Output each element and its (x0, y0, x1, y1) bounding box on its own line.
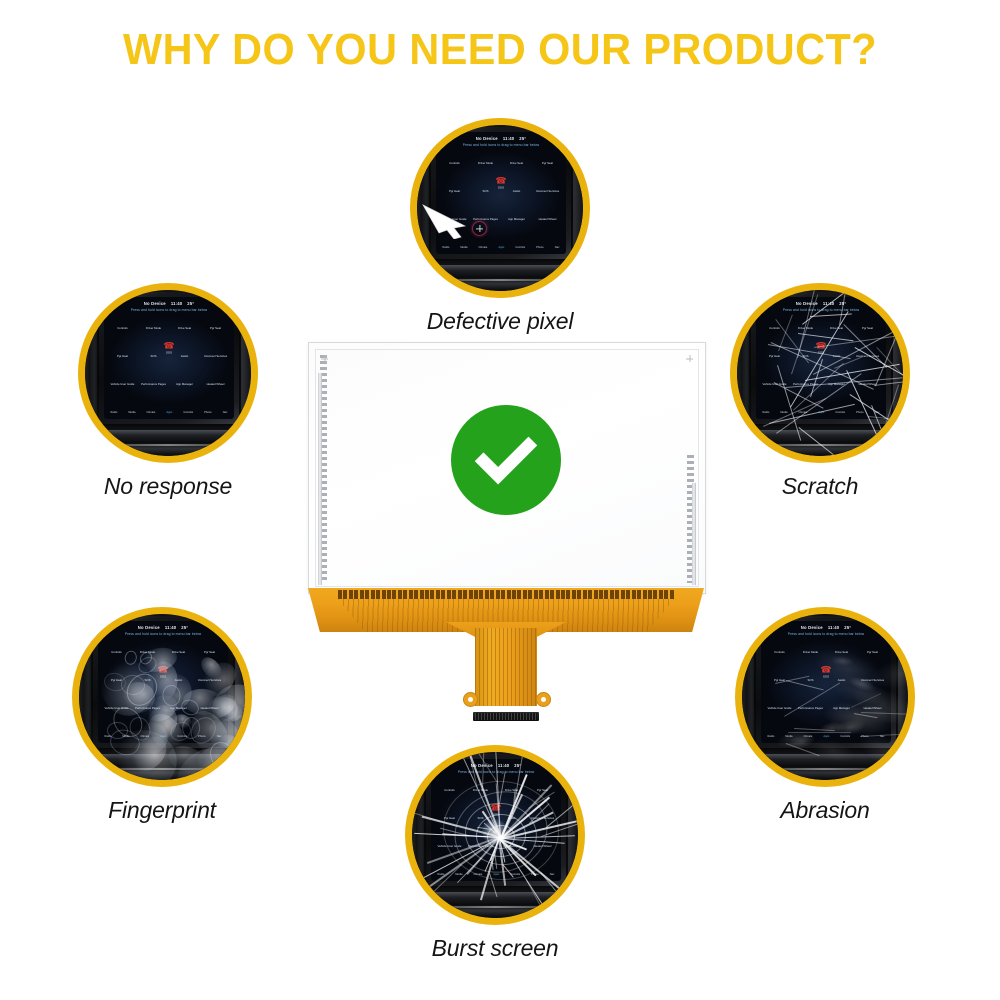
ribbon-contact-pads (338, 590, 674, 599)
menu-item: Driver Mode (798, 327, 813, 330)
green-check-circle-icon (451, 405, 561, 515)
callout-ring: LO No Device 11:40 25° LO Press and hold… (405, 745, 585, 925)
dock-item: Radio (438, 862, 445, 880)
car-dashboard-photo: LO No Device 11:40 25° LO Press and hold… (737, 290, 903, 456)
menu-item: Vehicle User Guide (111, 383, 135, 386)
menu-item: Controls (117, 327, 127, 330)
dock-item: Apps (160, 724, 166, 742)
menu-item: Uconnect Services (861, 679, 884, 682)
flex-ribbon-cable (300, 588, 712, 734)
callout-abrasion: LO No Device 11:40 25° LO Press and hold… (735, 607, 915, 824)
dock-item: Media (128, 400, 135, 418)
screen-hint-text: Press and hold icons to drag to menu bar… (756, 308, 886, 312)
menu-item: Pgr Seat (204, 651, 215, 654)
dock-item: Phone (204, 400, 212, 418)
car-dashboard-photo: LO No Device 11:40 25° LO Press and hold… (412, 752, 578, 918)
menu-item: Controls (111, 651, 121, 654)
ribbon-stem (475, 628, 537, 706)
infotainment-screen: LO No Device 11:40 25° LO Press and hold… (431, 759, 561, 881)
menu-item: Driver Mode (140, 651, 155, 654)
dock-item: Climate (479, 235, 488, 253)
menu-item: Uconnect Services (536, 190, 559, 193)
menu-item: Assist (833, 355, 840, 358)
menu-item: App Manager (508, 218, 525, 221)
infotainment-screen: LO No Device 11:40 25° LO Press and hold… (761, 621, 891, 743)
dock-item: Nav (880, 724, 885, 742)
status-device: No Device (144, 301, 166, 306)
menu-item: Drive Seat (835, 651, 848, 654)
menu-item: Driver Mode (478, 162, 493, 165)
menu-item: Performance Pages (468, 845, 493, 848)
screen-dock: Radio Media Climate Apps Controls Phone … (437, 235, 565, 252)
menu-item: Uconnect Services (531, 817, 554, 820)
alignment-mark-icon (686, 355, 693, 362)
menu-item: Pgr Heat (117, 355, 128, 358)
alignment-mark-icon (321, 355, 328, 362)
dock-item: Phone (861, 724, 869, 742)
dock-item: Apps (166, 400, 172, 418)
menu-item: Performance Pages (798, 707, 823, 710)
status-lo-left: LO (108, 301, 114, 306)
callout-defective-pixel: LO No Device 11:40 25° LO Press and hold… (410, 118, 590, 335)
menu-item: Drive Seat (172, 651, 185, 654)
menu-item: Performance Pages (135, 707, 160, 710)
status-temp: 25° (844, 625, 851, 630)
dock-item: Nav (223, 400, 228, 418)
screen-dock: Radio Media Climate Apps Controls Phone … (432, 862, 560, 879)
sos-indicator: ☎ SOS (495, 177, 506, 190)
sos-indicator: ☎ SOS (490, 804, 501, 817)
status-lo-left: LO (760, 301, 766, 306)
menu-item: Vehicle User Guide (768, 707, 792, 710)
dock-item: Media (122, 724, 129, 742)
product-touchscreen-digitizer (300, 336, 712, 736)
sos-indicator: ☎ SOS (163, 342, 174, 355)
menu-item: Assist (175, 679, 182, 682)
status-device: No Device (476, 136, 498, 141)
menu-item: App Manager (170, 707, 187, 710)
callout-ring: LO No Device 11:40 25° LO Press and hold… (730, 283, 910, 463)
menu-item: App Manager (833, 707, 850, 710)
sos-indicator: ☎ SOS (157, 666, 168, 679)
dock-item: Phone (531, 862, 539, 880)
dock-item: Media (455, 862, 462, 880)
menu-item: Vehicle User Guide (443, 218, 467, 221)
menu-item: Controls (774, 651, 784, 654)
menu-item: Driver Mode (803, 651, 818, 654)
car-dashboard-photo: LO No Device 11:40 25° LO Press and hold… (417, 125, 583, 291)
status-lo-right: LO (556, 136, 562, 141)
status-temp: 25° (839, 301, 846, 306)
screen-hint-text: Press and hold icons to drag to menu bar… (436, 143, 566, 147)
menu-item: Uconnect Services (198, 679, 221, 682)
callout-label-defective-pixel: Defective pixel (370, 308, 630, 335)
dock-item: Nav (550, 862, 555, 880)
screen-hint-text: Press and hold icons to drag to menu bar… (761, 632, 891, 636)
menu-item: Performance Pages (793, 383, 818, 386)
dock-item: Controls (510, 862, 520, 880)
callout-ring: LO No Device 11:40 25° LO Press and hold… (735, 607, 915, 787)
dock-item: Nav (875, 400, 880, 418)
menu-item: Pgr Heat (769, 355, 780, 358)
dock-item: Apps (498, 235, 504, 253)
dock-item: Climate (141, 724, 150, 742)
screen-hint-text: Press and hold icons to drag to menu bar… (98, 632, 228, 636)
status-time: 11:40 (503, 136, 514, 141)
menu-grid: Controls Driver Mode Drive Seat Pgr Seat… (434, 776, 558, 860)
callout-scratch: LO No Device 11:40 25° LO Press and hold… (730, 283, 910, 500)
status-device: No Device (796, 301, 818, 306)
ribbon-mount-hole-left (463, 692, 478, 707)
dock-item: Radio (443, 235, 450, 253)
dock-item: Phone (856, 400, 864, 418)
dock-item: Climate (799, 400, 808, 418)
menu-item: Heated Wheel (534, 845, 552, 848)
dock-item: Controls (835, 400, 845, 418)
screen-dock: Radio Media Climate Apps Controls Phone … (757, 400, 885, 417)
dock-item: Controls (515, 235, 525, 253)
menu-item: Performance Pages (141, 383, 166, 386)
status-temp: 25° (181, 625, 188, 630)
dock-item: Radio (111, 400, 118, 418)
callout-label-abrasion: Abrasion (695, 797, 955, 824)
menu-item: Performance Pages (473, 218, 498, 221)
callout-no-response: LO No Device 11:40 25° LO Press and hold… (78, 283, 258, 500)
callout-label-fingerprint: Fingerprint (32, 797, 292, 824)
dock-item: Climate (804, 724, 813, 742)
menu-item: Controls (769, 327, 779, 330)
callout-ring: LO No Device 11:40 25° LO Press and hold… (72, 607, 252, 787)
menu-item: Assist (838, 679, 845, 682)
menu-item: Heated Wheel (864, 707, 882, 710)
menu-item: Heated Wheel (201, 707, 219, 710)
menu-item: Vehicle User Guide (438, 845, 462, 848)
status-lo-left: LO (102, 625, 108, 630)
dock-item: Apps (818, 400, 824, 418)
menu-item: Assist (181, 355, 188, 358)
dock-item: Apps (493, 862, 499, 880)
ribbon-mount-hole-right (536, 692, 551, 707)
dock-item: Climate (147, 400, 156, 418)
status-lo-left: LO (440, 136, 446, 141)
menu-item: Pgr Heat (774, 679, 785, 682)
dock-item: Media (780, 400, 787, 418)
menu-item: SOS (803, 355, 809, 358)
status-lo-right: LO (218, 625, 224, 630)
screen-dock: Radio Media Climate Apps Controls Phone … (105, 400, 233, 417)
menu-item: App Manager (176, 383, 193, 386)
ribbon-connector (473, 712, 539, 721)
status-time: 11:40 (823, 301, 834, 306)
menu-item: Driver Mode (473, 789, 488, 792)
screen-hint-text: Press and hold icons to drag to menu bar… (104, 308, 234, 312)
infotainment-screen: LO No Device 11:40 25° LO Press and hold… (756, 297, 886, 419)
menu-item: Uconnect Services (856, 355, 879, 358)
screen-dock: Radio Media Climate Apps Controls Phone … (762, 724, 890, 741)
status-time: 11:40 (165, 625, 176, 630)
menu-item: Drive Seat (505, 789, 518, 792)
car-dashboard-photo: LO No Device 11:40 25° LO Press and hold… (85, 290, 251, 456)
dock-item: Nav (555, 235, 560, 253)
menu-item: Pgr Seat (867, 651, 878, 654)
menu-item: SOS (483, 190, 489, 193)
infotainment-screen: LO No Device 11:40 25° LO Press and hold… (104, 297, 234, 419)
menu-item: Drive Seat (178, 327, 191, 330)
screen-hint-text: Press and hold icons to drag to menu bar… (431, 770, 561, 774)
menu-item: Vehicle User Guide (105, 707, 129, 710)
dock-item: Controls (840, 724, 850, 742)
menu-item: Controls (449, 162, 459, 165)
status-temp: 25° (187, 301, 194, 306)
status-lo-right: LO (876, 301, 882, 306)
menu-grid: Controls Driver Mode Drive Seat Pgr Seat… (439, 149, 563, 233)
status-lo-right: LO (881, 625, 887, 630)
menu-item: Controls (444, 789, 454, 792)
menu-item: App Manager (503, 845, 520, 848)
menu-item: Pgr Seat (537, 789, 548, 792)
callout-fingerprint: LO No Device 11:40 25° LO Press and hold… (72, 607, 252, 824)
dock-item: Controls (177, 724, 187, 742)
status-device: No Device (138, 625, 160, 630)
menu-item: Assist (513, 190, 520, 193)
status-lo-left: LO (765, 625, 771, 630)
menu-item: App Manager (828, 383, 845, 386)
menu-item: Heated Wheel (539, 218, 557, 221)
page-title: WHY DO YOU NEED OUR PRODUCT? (30, 28, 970, 72)
menu-item: Driver Mode (146, 327, 161, 330)
callout-ring: LO No Device 11:40 25° LO Press and hold… (410, 118, 590, 298)
menu-item: SOS (808, 679, 814, 682)
menu-item: SOS (478, 817, 484, 820)
menu-item: SOS (145, 679, 151, 682)
menu-item: Uconnect Services (204, 355, 227, 358)
car-dashboard-photo: LO No Device 11:40 25° LO Press and hold… (742, 614, 908, 780)
callout-label-scratch: Scratch (690, 473, 950, 500)
dock-item: Apps (823, 724, 829, 742)
dock-item: Media (785, 724, 792, 742)
dock-item: Phone (536, 235, 544, 253)
menu-item: Vehicle User Guide (763, 383, 787, 386)
dock-item: Radio (105, 724, 112, 742)
menu-grid: Controls Driver Mode Drive Seat Pgr Seat… (759, 314, 883, 398)
screen-dock: Radio Media Climate Apps Controls Phone … (99, 724, 227, 741)
menu-item: Assist (508, 817, 515, 820)
status-temp: 25° (519, 136, 526, 141)
dock-item: Climate (474, 862, 483, 880)
sos-indicator: ☎ SOS (815, 342, 826, 355)
status-device: No Device (801, 625, 823, 630)
status-time: 11:40 (828, 625, 839, 630)
dock-item: Phone (198, 724, 206, 742)
callout-label-burst-screen: Burst screen (365, 935, 625, 962)
menu-item: Pgr Seat (862, 327, 873, 330)
status-time: 11:40 (498, 763, 509, 768)
menu-item: Drive Seat (830, 327, 843, 330)
callout-label-no-response: No response (38, 473, 298, 500)
menu-item: Heated Wheel (207, 383, 225, 386)
dock-item: Nav (217, 724, 222, 742)
menu-item: Pgr Heat (111, 679, 122, 682)
menu-item: Pgr Heat (449, 190, 460, 193)
menu-item: Heated Wheel (859, 383, 877, 386)
status-lo-right: LO (551, 763, 557, 768)
status-lo-right: LO (224, 301, 230, 306)
car-dashboard-photo: LO No Device 11:40 25° LO Press and hold… (79, 614, 245, 780)
menu-item: Drive Seat (510, 162, 523, 165)
dock-item: Radio (763, 400, 770, 418)
menu-item: SOS (151, 355, 157, 358)
infotainment-screen: LO No Device 11:40 25° LO Press and hold… (436, 132, 566, 254)
dock-item: Media (460, 235, 467, 253)
menu-item: Pgr Seat (542, 162, 553, 165)
menu-item: Pgr Seat (210, 327, 221, 330)
infotainment-screen: LO No Device 11:40 25° LO Press and hold… (98, 621, 228, 743)
menu-grid: Controls Driver Mode Drive Seat Pgr Seat… (764, 638, 888, 722)
dock-item: Controls (183, 400, 193, 418)
status-temp: 25° (514, 763, 521, 768)
status-lo-left: LO (435, 763, 441, 768)
menu-grid: Controls Driver Mode Drive Seat Pgr Seat… (101, 638, 225, 722)
callout-ring: LO No Device 11:40 25° LO Press and hold… (78, 283, 258, 463)
callout-burst-screen: LO No Device 11:40 25° LO Press and hold… (405, 745, 585, 962)
menu-grid: Controls Driver Mode Drive Seat Pgr Seat… (107, 314, 231, 398)
status-device: No Device (471, 763, 493, 768)
sos-indicator: ☎ SOS (820, 666, 831, 679)
status-time: 11:40 (171, 301, 182, 306)
menu-item: Pgr Heat (444, 817, 455, 820)
dock-item: Radio (768, 724, 775, 742)
